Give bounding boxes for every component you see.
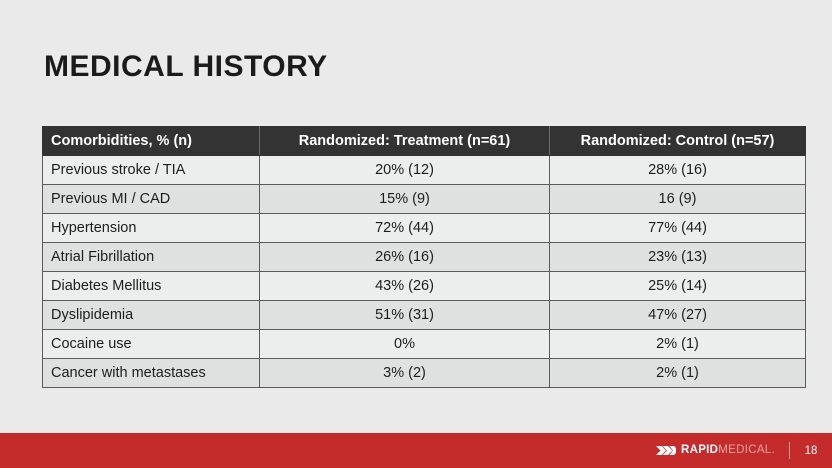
row-label: Hypertension [43, 214, 260, 243]
table-row: Diabetes Mellitus 43% (26) 25% (14) [43, 272, 806, 301]
table-header: Comorbidities, % (n) Randomized: Treatme… [43, 127, 806, 156]
rapid-chevron-icon [656, 445, 676, 456]
row-control-value: 16 (9) [550, 185, 806, 214]
column-header-control: Randomized: Control (n=57) [550, 127, 806, 156]
table-row: Cocaine use 0% 2% (1) [43, 330, 806, 359]
row-control-value: 25% (14) [550, 272, 806, 301]
page-number: 18 [804, 445, 818, 457]
row-control-value: 47% (27) [550, 301, 806, 330]
footer-divider [789, 442, 790, 459]
table-row: Atrial Fibrillation 26% (16) 23% (13) [43, 243, 806, 272]
row-label: Diabetes Mellitus [43, 272, 260, 301]
column-header-treatment: Randomized: Treatment (n=61) [260, 127, 550, 156]
medical-history-table: Comorbidities, % (n) Randomized: Treatme… [42, 126, 806, 388]
row-treatment-value: 15% (9) [260, 185, 550, 214]
brand-logo-primary: RAPID [681, 444, 718, 456]
table-row: Cancer with metastases 3% (2) 2% (1) [43, 359, 806, 388]
row-treatment-value: 26% (16) [260, 243, 550, 272]
slide: MEDICAL HISTORY Comorbidities, % (n) Ran… [0, 0, 832, 468]
row-label: Cocaine use [43, 330, 260, 359]
table-header-row: Comorbidities, % (n) Randomized: Treatme… [43, 127, 806, 156]
brand-logo-secondary: MEDICAL. [718, 444, 775, 456]
row-label: Previous MI / CAD [43, 185, 260, 214]
table-row: Hypertension 72% (44) 77% (44) [43, 214, 806, 243]
row-treatment-value: 43% (26) [260, 272, 550, 301]
row-label: Dyslipidemia [43, 301, 260, 330]
row-control-value: 2% (1) [550, 359, 806, 388]
row-label: Cancer with metastases [43, 359, 260, 388]
row-control-value: 23% (13) [550, 243, 806, 272]
column-header-comorbidities: Comorbidities, % (n) [43, 127, 260, 156]
page-title: MEDICAL HISTORY [44, 50, 328, 84]
footer-content: RAPIDMEDICAL. 18 [656, 433, 818, 468]
row-control-value: 2% (1) [550, 330, 806, 359]
table-row: Dyslipidemia 51% (31) 47% (27) [43, 301, 806, 330]
row-treatment-value: 0% [260, 330, 550, 359]
brand-logo-text: RAPIDMEDICAL. [681, 445, 775, 457]
footer-bar: RAPIDMEDICAL. 18 [0, 433, 832, 468]
row-treatment-value: 51% (31) [260, 301, 550, 330]
row-label: Atrial Fibrillation [43, 243, 260, 272]
row-label: Previous stroke / TIA [43, 156, 260, 185]
table-row: Previous stroke / TIA 20% (12) 28% (16) [43, 156, 806, 185]
table-row: Previous MI / CAD 15% (9) 16 (9) [43, 185, 806, 214]
row-control-value: 77% (44) [550, 214, 806, 243]
row-treatment-value: 20% (12) [260, 156, 550, 185]
table-body: Previous stroke / TIA 20% (12) 28% (16) … [43, 156, 806, 388]
medical-history-table-container: Comorbidities, % (n) Randomized: Treatme… [42, 126, 805, 388]
row-treatment-value: 72% (44) [260, 214, 550, 243]
row-control-value: 28% (16) [550, 156, 806, 185]
row-treatment-value: 3% (2) [260, 359, 550, 388]
brand-logo: RAPIDMEDICAL. [656, 445, 775, 457]
